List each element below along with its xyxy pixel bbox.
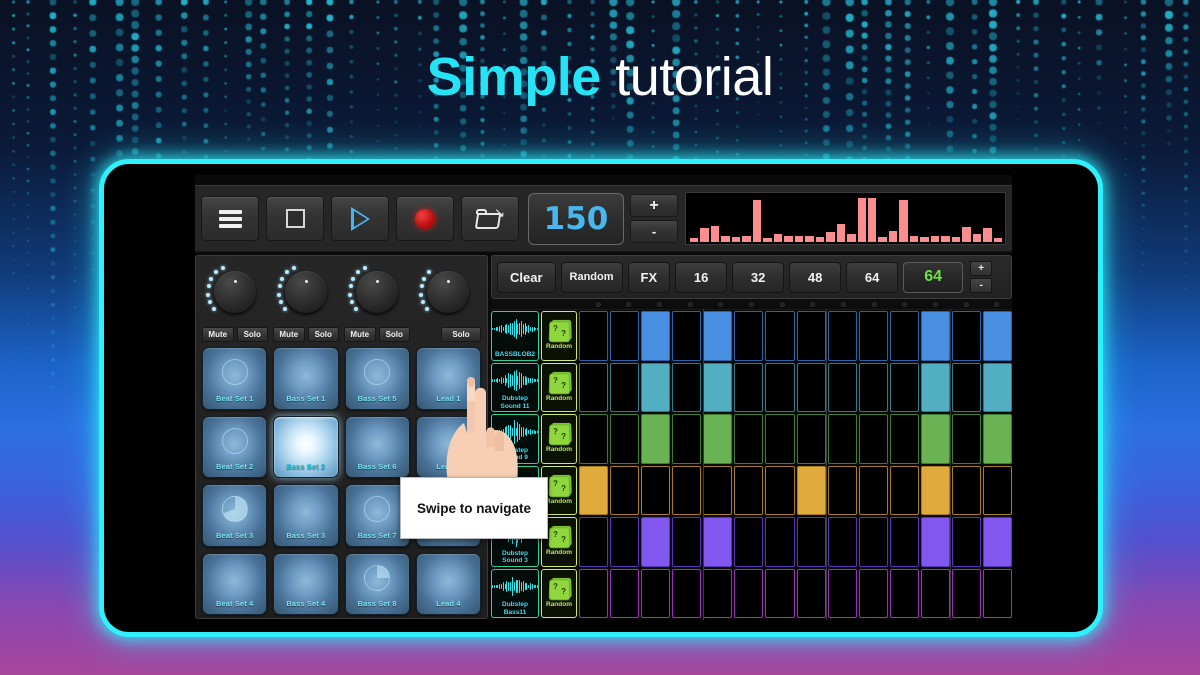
step-cell[interactable] bbox=[983, 363, 1012, 413]
step-cell[interactable] bbox=[610, 363, 639, 413]
step-cell[interactable] bbox=[952, 466, 981, 516]
knob-led bbox=[467, 308, 470, 311]
track-label-dubstep-sound-11[interactable]: DubstepSound 11 bbox=[491, 363, 539, 413]
knob-4[interactable] bbox=[415, 261, 481, 324]
step-cell[interactable] bbox=[983, 311, 1012, 361]
step-cell[interactable] bbox=[672, 311, 701, 361]
pad-bass-set-3[interactable]: Bass Set 3 bbox=[273, 484, 338, 547]
bpm-increase-button[interactable]: + bbox=[630, 194, 678, 217]
knob-1[interactable] bbox=[202, 261, 268, 324]
step-cell[interactable] bbox=[983, 466, 1012, 516]
track-steps bbox=[579, 569, 1012, 619]
dice-icon: ?? bbox=[548, 528, 570, 549]
step-cell[interactable] bbox=[734, 466, 763, 516]
knob-led bbox=[473, 285, 476, 288]
pad-lead-4[interactable]: Lead 4 bbox=[416, 553, 481, 616]
bar-divider bbox=[703, 412, 704, 466]
track-name: DubstepBass11 bbox=[492, 601, 538, 616]
knob-led bbox=[420, 284, 424, 288]
track-name: DubstepSound 9 bbox=[492, 447, 538, 462]
step-cell[interactable] bbox=[579, 311, 608, 361]
spectrum-bar bbox=[878, 237, 886, 242]
step-cell[interactable] bbox=[641, 569, 670, 619]
step-cell[interactable] bbox=[828, 414, 857, 464]
knob-led bbox=[280, 277, 284, 281]
knob-led bbox=[308, 264, 311, 267]
track-random-label: Random bbox=[546, 601, 572, 608]
step-cell[interactable] bbox=[890, 569, 919, 619]
spectrum-bar bbox=[732, 237, 740, 242]
step-cell[interactable] bbox=[641, 363, 670, 413]
pad-bass-set-4[interactable]: Bass Set 4 bbox=[273, 553, 338, 616]
main-work-area: MuteSoloMuteSoloMuteSoloSolo Beat Set 1B… bbox=[195, 255, 1012, 619]
knob-led bbox=[354, 307, 358, 311]
pad-beat-set-4[interactable]: Beat Set 4 bbox=[202, 553, 267, 616]
spectrum-bar bbox=[889, 231, 897, 242]
knob-led bbox=[421, 300, 425, 304]
step-marker-dot bbox=[596, 302, 601, 307]
step-cell[interactable] bbox=[859, 517, 888, 567]
step-cell[interactable] bbox=[797, 311, 826, 361]
pad-lead-1[interactable]: Lead 1 bbox=[416, 347, 481, 410]
step-cell[interactable] bbox=[952, 414, 981, 464]
pad-panel: MuteSoloMuteSoloMuteSoloSolo Beat Set 1B… bbox=[195, 255, 488, 619]
knob-led bbox=[349, 284, 353, 288]
pad-bass-set-8[interactable]: Bass Set 8 bbox=[345, 553, 410, 616]
step-cell[interactable] bbox=[890, 363, 919, 413]
step-cell[interactable] bbox=[952, 517, 981, 567]
step-cell[interactable] bbox=[828, 466, 857, 516]
step-cell[interactable] bbox=[828, 363, 857, 413]
mute-button-2[interactable]: Mute bbox=[273, 327, 305, 342]
knob-led bbox=[329, 301, 332, 304]
knob-led-ring bbox=[205, 262, 265, 322]
step-cell[interactable] bbox=[765, 311, 794, 361]
step-marker-10[interactable] bbox=[859, 299, 890, 309]
step-cell[interactable] bbox=[921, 569, 950, 619]
step-cell[interactable] bbox=[610, 466, 639, 516]
track-waveform-icon bbox=[492, 318, 538, 340]
current-length-display[interactable]: 64 bbox=[903, 262, 963, 293]
track-random-button[interactable]: ??Random bbox=[541, 569, 577, 619]
step-cell[interactable] bbox=[703, 363, 732, 413]
step-marker-dot bbox=[810, 302, 815, 307]
step-marker-12[interactable] bbox=[920, 299, 951, 309]
step-marker-dot bbox=[688, 302, 693, 307]
knob-led bbox=[387, 266, 390, 269]
step-cell[interactable] bbox=[703, 569, 732, 619]
pad-state-icon bbox=[364, 565, 390, 591]
knob-led-ring bbox=[347, 262, 407, 322]
knob-led bbox=[229, 264, 232, 267]
channel-2-buttons: MuteSolo bbox=[273, 327, 339, 342]
step-cell[interactable] bbox=[828, 311, 857, 361]
step-marker-dot bbox=[841, 302, 846, 307]
bar-divider bbox=[703, 309, 704, 363]
knob-led bbox=[325, 308, 328, 311]
step-cell[interactable] bbox=[610, 414, 639, 464]
step-cell[interactable] bbox=[952, 569, 981, 619]
spectrum-bar bbox=[983, 228, 991, 242]
pad-state-icon bbox=[222, 496, 248, 522]
track-name: BASSBLOB2 bbox=[492, 351, 538, 359]
knob-led bbox=[254, 308, 257, 311]
step-cell[interactable] bbox=[921, 363, 950, 413]
step-marker-11[interactable] bbox=[889, 299, 920, 309]
dice-icon: ?? bbox=[548, 322, 570, 343]
knob-led bbox=[473, 293, 476, 296]
spectrum-bar bbox=[837, 224, 845, 242]
knob-led bbox=[394, 271, 397, 274]
knob-led bbox=[458, 266, 461, 269]
step-cell[interactable] bbox=[859, 414, 888, 464]
knob-led bbox=[260, 285, 263, 288]
knob-cap[interactable] bbox=[285, 271, 327, 313]
sequencer-track-row: DubstepBass11??Random bbox=[491, 568, 1012, 620]
transport-bar: ↘ 150 + - bbox=[195, 185, 1012, 252]
title-highlight: Simple bbox=[427, 47, 601, 107]
bpm-stepper: + - bbox=[630, 194, 678, 243]
step-cell[interactable] bbox=[734, 414, 763, 464]
track-steps bbox=[579, 466, 1012, 516]
step-cell[interactable] bbox=[859, 466, 888, 516]
fx-button[interactable]: FX bbox=[628, 262, 671, 293]
spectrum-bar bbox=[826, 232, 834, 242]
knob-led bbox=[279, 300, 283, 304]
knob-led bbox=[351, 277, 355, 281]
pad-lead-2[interactable]: Lead 2 bbox=[416, 416, 481, 479]
step-marker-1[interactable] bbox=[583, 299, 614, 309]
length-64-button[interactable]: 64 bbox=[846, 262, 898, 293]
clear-button[interactable]: Clear bbox=[497, 262, 556, 293]
step-cell[interactable] bbox=[765, 363, 794, 413]
step-cell[interactable] bbox=[797, 569, 826, 619]
pad-bass-set-1[interactable]: Bass Set 1 bbox=[273, 347, 338, 410]
step-cell[interactable] bbox=[952, 311, 981, 361]
step-cell[interactable] bbox=[828, 517, 857, 567]
track-steps bbox=[579, 363, 1012, 413]
pad-label: Bass Set 8 bbox=[358, 599, 397, 608]
length-32-button[interactable]: 32 bbox=[732, 262, 784, 293]
step-cell[interactable] bbox=[828, 569, 857, 619]
record-button[interactable] bbox=[396, 196, 454, 241]
pad-bass-set-5[interactable]: Bass Set 5 bbox=[345, 347, 410, 410]
spectrum-bar bbox=[931, 236, 939, 242]
channel-1-buttons: MuteSolo bbox=[202, 327, 268, 342]
step-cell[interactable] bbox=[797, 414, 826, 464]
spectrum-bar bbox=[774, 234, 782, 242]
track-waveform-icon bbox=[492, 370, 538, 392]
bar-divider bbox=[950, 464, 951, 518]
knob-led bbox=[419, 293, 423, 297]
sequencer-track-row: DubstepSound 7??Random bbox=[491, 465, 1012, 517]
pad-label: Beat Set 4 bbox=[216, 599, 253, 608]
random-pattern-button[interactable]: Random bbox=[561, 262, 623, 293]
length-16-button[interactable]: 16 bbox=[675, 262, 727, 293]
pad-label: Bass Set 6 bbox=[358, 462, 397, 471]
pad-label: Bass Set 3 bbox=[286, 531, 325, 540]
step-cell[interactable] bbox=[921, 466, 950, 516]
knob-led bbox=[422, 277, 426, 281]
spectrum-bar bbox=[973, 234, 981, 242]
knob-led bbox=[237, 264, 240, 267]
knob-led bbox=[450, 264, 453, 267]
knob-cap[interactable] bbox=[356, 271, 398, 313]
knob-led bbox=[260, 293, 263, 296]
bar-divider bbox=[826, 464, 827, 518]
tooltip-swipe-to-navigate: Swipe to navigate bbox=[400, 477, 548, 539]
sequencer-track-row: DubstepSound 9??Random bbox=[491, 413, 1012, 465]
length-stepper: + - bbox=[970, 261, 992, 293]
knob-2[interactable] bbox=[273, 261, 339, 324]
knob-led bbox=[331, 285, 334, 288]
channel-4-buttons: Solo bbox=[415, 327, 481, 342]
bpm-value: 150 bbox=[544, 201, 609, 237]
track-label-bassblob2[interactable]: BASSBLOB2 bbox=[491, 311, 539, 361]
bar-divider bbox=[826, 361, 827, 415]
pad-state-icon bbox=[364, 359, 390, 385]
step-cell[interactable] bbox=[703, 466, 732, 516]
step-cell[interactable] bbox=[859, 363, 888, 413]
knob-led bbox=[258, 301, 261, 304]
dice-icon: ?? bbox=[548, 425, 570, 446]
pad-label: Bass Set 7 bbox=[358, 531, 397, 540]
sequencer-track-row: DubstepSound 3??Random bbox=[491, 516, 1012, 568]
step-cell[interactable] bbox=[703, 517, 732, 567]
step-cell[interactable] bbox=[610, 311, 639, 361]
pad-label: Beat Set 3 bbox=[216, 531, 253, 540]
step-cell[interactable] bbox=[641, 311, 670, 361]
step-cell[interactable] bbox=[672, 363, 701, 413]
pad-beat-set-2[interactable]: Beat Set 2 bbox=[202, 416, 267, 479]
knob-led bbox=[206, 293, 210, 297]
pad-beat-set-3[interactable]: Beat Set 3 bbox=[202, 484, 267, 547]
step-cell[interactable] bbox=[921, 517, 950, 567]
bar-divider bbox=[703, 464, 704, 518]
step-cell[interactable] bbox=[672, 466, 701, 516]
step-cell[interactable] bbox=[641, 517, 670, 567]
knob-led bbox=[402, 285, 405, 288]
step-cell[interactable] bbox=[703, 311, 732, 361]
knob-led bbox=[399, 277, 402, 280]
spectrum-bar bbox=[721, 236, 729, 242]
sequencer-track-row: BASSBLOB2??Random bbox=[491, 310, 1012, 362]
solo-button-2[interactable]: Solo bbox=[308, 327, 340, 342]
step-marker-dot bbox=[626, 302, 631, 307]
spectrum-bar bbox=[700, 228, 708, 242]
step-cell[interactable] bbox=[734, 311, 763, 361]
knob-indicator bbox=[376, 280, 379, 283]
knob-led bbox=[277, 293, 281, 297]
step-cell[interactable] bbox=[734, 569, 763, 619]
step-cell[interactable] bbox=[890, 414, 919, 464]
dice-icon: ?? bbox=[548, 373, 570, 394]
knob-led bbox=[435, 266, 438, 269]
knob-led bbox=[214, 270, 218, 274]
spectrum-bar bbox=[805, 236, 813, 242]
page-title: Simple tutorial bbox=[0, 50, 1200, 104]
pad-label: Beat Set 1 bbox=[216, 394, 253, 403]
bar-divider bbox=[826, 309, 827, 363]
step-marker-4[interactable] bbox=[675, 299, 706, 309]
step-cell[interactable] bbox=[672, 517, 701, 567]
step-cell[interactable] bbox=[610, 517, 639, 567]
step-marker-14[interactable] bbox=[981, 299, 1012, 309]
knob-led bbox=[245, 266, 248, 269]
knob-led bbox=[425, 307, 429, 311]
bar-divider bbox=[950, 412, 951, 466]
step-marker-3[interactable] bbox=[644, 299, 675, 309]
knob-led bbox=[442, 264, 445, 267]
knob-led bbox=[278, 284, 282, 288]
step-marker-dot bbox=[994, 302, 999, 307]
solo-button-4[interactable]: Solo bbox=[441, 327, 481, 342]
step-marker-dot bbox=[749, 302, 754, 307]
step-cell[interactable] bbox=[672, 414, 701, 464]
step-cell[interactable] bbox=[610, 569, 639, 619]
step-cell[interactable] bbox=[734, 363, 763, 413]
step-cell[interactable] bbox=[765, 569, 794, 619]
play-button[interactable] bbox=[331, 196, 389, 241]
step-cell[interactable] bbox=[797, 363, 826, 413]
bpm-decrease-button[interactable]: - bbox=[630, 220, 678, 243]
step-sequencer-grid: BASSBLOB2??RandomDubstepSound 11??Random… bbox=[491, 310, 1012, 619]
knob-led bbox=[323, 271, 326, 274]
step-cell[interactable] bbox=[641, 414, 670, 464]
knob-led bbox=[402, 293, 405, 296]
knob-led bbox=[316, 266, 319, 269]
knob-cap[interactable] bbox=[214, 271, 256, 313]
step-cell[interactable] bbox=[641, 466, 670, 516]
step-cell[interactable] bbox=[579, 363, 608, 413]
knob-3[interactable] bbox=[344, 261, 410, 324]
track-name: DubstepSound 3 bbox=[492, 550, 538, 565]
stop-button[interactable] bbox=[266, 196, 324, 241]
solo-button-3[interactable]: Solo bbox=[379, 327, 411, 342]
step-cell[interactable] bbox=[765, 517, 794, 567]
spectrum-bar bbox=[816, 237, 824, 242]
step-marker-dot bbox=[933, 302, 938, 307]
step-cell[interactable] bbox=[672, 569, 701, 619]
knob-led-ring bbox=[276, 262, 336, 322]
step-cell[interactable] bbox=[765, 466, 794, 516]
mute-button-1[interactable]: Mute bbox=[202, 327, 234, 342]
step-marker-5[interactable] bbox=[706, 299, 737, 309]
spectrum-bar bbox=[941, 236, 949, 242]
solo-button-1[interactable]: Solo bbox=[237, 327, 269, 342]
step-cell[interactable] bbox=[579, 414, 608, 464]
step-cell[interactable] bbox=[859, 569, 888, 619]
track-steps bbox=[579, 414, 1012, 464]
spectrum-bar bbox=[962, 227, 970, 242]
step-marker-dot bbox=[872, 302, 877, 307]
step-cell[interactable] bbox=[765, 414, 794, 464]
track-label-dubstep-sound-9[interactable]: DubstepSound 9 bbox=[491, 414, 539, 464]
pad-label: Bass Set 2 bbox=[286, 462, 325, 471]
spectrum-bar bbox=[711, 226, 719, 243]
step-cell[interactable] bbox=[579, 517, 608, 567]
spectrum-bar bbox=[847, 234, 855, 242]
mute-solo-row: MuteSoloMuteSoloMuteSoloSolo bbox=[202, 327, 481, 342]
step-cell[interactable] bbox=[734, 517, 763, 567]
length-48-button[interactable]: 48 bbox=[789, 262, 841, 293]
length-increase-button[interactable]: + bbox=[970, 261, 992, 276]
pad-bass-set-6[interactable]: Bass Set 6 bbox=[345, 416, 410, 479]
step-marker-row bbox=[491, 299, 1012, 310]
step-cell[interactable] bbox=[890, 517, 919, 567]
step-cell[interactable] bbox=[983, 569, 1012, 619]
step-cell[interactable] bbox=[983, 517, 1012, 567]
knob-led bbox=[331, 293, 334, 296]
knob-indicator bbox=[234, 280, 237, 283]
pad-bass-set-2[interactable]: Bass Set 2 bbox=[273, 416, 338, 479]
knob-led bbox=[350, 300, 354, 304]
step-marker-6[interactable] bbox=[736, 299, 767, 309]
step-cell[interactable] bbox=[921, 311, 950, 361]
track-steps bbox=[579, 311, 1012, 361]
step-marker-2[interactable] bbox=[614, 299, 645, 309]
step-cell[interactable] bbox=[579, 466, 608, 516]
mute-button-3[interactable]: Mute bbox=[344, 327, 376, 342]
pad-beat-set-1[interactable]: Beat Set 1 bbox=[202, 347, 267, 410]
spectrum-bar bbox=[910, 236, 918, 242]
step-cell[interactable] bbox=[921, 414, 950, 464]
length-decrease-button[interactable]: - bbox=[970, 278, 992, 293]
track-random-button[interactable]: ??Random bbox=[541, 311, 577, 361]
pad-label: Lead 2 bbox=[436, 462, 460, 471]
step-cell[interactable] bbox=[797, 517, 826, 567]
step-marker-dot bbox=[718, 302, 723, 307]
step-cell[interactable] bbox=[797, 466, 826, 516]
step-cell[interactable] bbox=[859, 311, 888, 361]
step-marker-7[interactable] bbox=[767, 299, 798, 309]
step-cell[interactable] bbox=[703, 414, 732, 464]
step-cell[interactable] bbox=[983, 414, 1012, 464]
track-waveform-icon bbox=[492, 421, 538, 443]
step-marker-dot bbox=[964, 302, 969, 307]
spectrum-bar bbox=[994, 238, 1002, 242]
step-marker-13[interactable] bbox=[951, 299, 982, 309]
folder-open-icon: ↘ bbox=[476, 208, 504, 229]
step-marker-8[interactable] bbox=[797, 299, 828, 309]
step-cell[interactable] bbox=[890, 311, 919, 361]
pad-label: Bass Set 5 bbox=[358, 394, 397, 403]
menu-button[interactable] bbox=[201, 196, 259, 241]
spectrum-bar bbox=[858, 198, 866, 242]
step-cell[interactable] bbox=[579, 569, 608, 619]
spectrum-bar bbox=[784, 236, 792, 242]
step-marker-dot bbox=[657, 302, 662, 307]
bpm-display[interactable]: 150 bbox=[528, 193, 624, 245]
knob-cap[interactable] bbox=[427, 271, 469, 313]
track-label-dubstep-bass11[interactable]: DubstepBass11 bbox=[491, 569, 539, 619]
bar-divider bbox=[826, 567, 827, 621]
knob-led bbox=[363, 266, 367, 270]
step-marker-9[interactable] bbox=[828, 299, 859, 309]
track-random-button[interactable]: ??Random bbox=[541, 363, 577, 413]
bar-divider bbox=[950, 309, 951, 363]
open-project-button[interactable]: ↘ bbox=[461, 196, 519, 241]
knob-led bbox=[283, 307, 287, 311]
track-random-button[interactable]: ??Random bbox=[541, 414, 577, 464]
knob-led bbox=[208, 300, 212, 304]
knob-indicator bbox=[305, 280, 308, 283]
spectrum-bar bbox=[763, 238, 771, 242]
spectrum-bar bbox=[920, 237, 928, 242]
step-cell[interactable] bbox=[890, 466, 919, 516]
step-cell[interactable] bbox=[952, 363, 981, 413]
pad-state-icon bbox=[364, 496, 390, 522]
